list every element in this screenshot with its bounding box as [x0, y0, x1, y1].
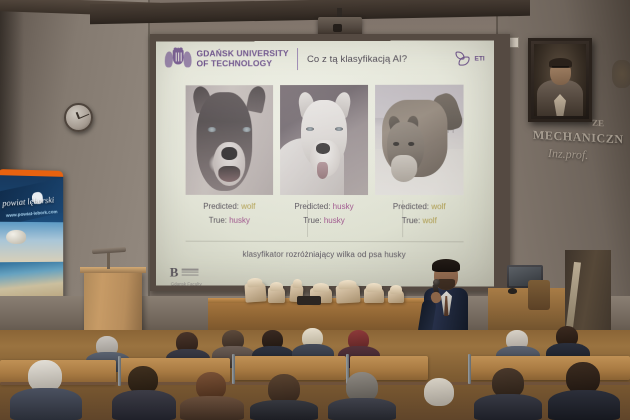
footer-logo-mark: B: [170, 267, 179, 279]
dog3-eye-right: [409, 142, 415, 145]
prediction-label-row: Predicted: wolf True: husky Predicted: h…: [186, 200, 464, 237]
slide-title: Co z tą klasyfikacją AI?: [307, 53, 454, 64]
gdansk-university-crest-icon: [165, 48, 192, 71]
university-name: GDAŃSK UNIVERSITY OF TECHNOLOGY: [197, 49, 289, 69]
predicted-line-3: Predicted: wolf: [375, 200, 463, 214]
bench-post: [232, 354, 235, 384]
bench-post: [118, 356, 121, 386]
side-chair: [528, 280, 550, 310]
projector-lens-icon: [333, 24, 342, 32]
eti-logo-shape-2: [458, 57, 469, 66]
true-value-1: husky: [229, 216, 250, 225]
slide-horizontal-rule: [186, 241, 464, 243]
audience-shoulders: [180, 396, 244, 420]
dog-photo-row: [186, 85, 464, 195]
husky-dark-photo: [186, 85, 273, 195]
desk-mouse: [508, 288, 517, 294]
audience-shoulders: [10, 388, 82, 420]
predicted-value-3: wolf: [431, 202, 445, 211]
presentation-slide: GDAŃSK UNIVERSITY OF TECHNOLOGY Co z tą …: [156, 40, 494, 286]
slide-header: GDAŃSK UNIVERSITY OF TECHNOLOGY Co z tą …: [156, 40, 494, 77]
true-line-2: True: husky: [280, 214, 368, 228]
dog1-nose: [221, 147, 237, 160]
portrait-canvas: [534, 44, 586, 116]
true-label-2: True:: [303, 216, 321, 225]
rollup-banner: powiat lęborski www.powiat-lebork.com: [0, 169, 63, 316]
lectern-top: [80, 267, 146, 273]
crest-lion-left-icon: [165, 51, 173, 67]
crest-shield-icon: [173, 49, 184, 64]
prediction-column-2: Predicted: husky True: husky: [280, 200, 368, 237]
true-label-3: True:: [402, 216, 420, 225]
paper-bag: [268, 287, 285, 303]
true-line-3: True: wolf: [375, 214, 463, 228]
prediction-column-3: Predicted: wolf True: wolf: [375, 200, 463, 237]
crest-lion-right-icon: [184, 51, 192, 67]
slide-footer-logo: B Gdansk Faculty: [170, 267, 198, 279]
wall-clock: [64, 103, 93, 132]
paper-bag: [336, 284, 361, 303]
slide-caption: klasyfikator rozróżniający wilka od psa …: [156, 250, 494, 260]
dog1-mouth: [219, 166, 240, 181]
bench-post: [468, 354, 471, 384]
banner-rock: [6, 230, 26, 244]
wolf-snow-photo: [375, 85, 463, 195]
dog1-eye-right: [242, 127, 251, 132]
paper-bag: [244, 282, 266, 302]
audience-shoulders: [328, 398, 396, 420]
table-equipment-case: [297, 296, 321, 305]
paper-bag: [364, 288, 384, 303]
audience-shoulders: [474, 394, 542, 420]
wall-sign-prefix: ZE: [592, 118, 604, 129]
eti-faculty-block: ETI: [454, 50, 484, 66]
predicted-label-1: Predicted:: [203, 202, 239, 211]
portrait-glasses-icon: [552, 66, 569, 70]
framed-portrait: [528, 38, 592, 122]
lecture-hall-scene: ZE MECHANICZN Inz.prof. GDAŃSK UNIVERSIT…: [0, 0, 630, 420]
true-value-2: husky: [324, 216, 345, 225]
clock-minute-hand: [78, 113, 89, 118]
true-value-3: wolf: [422, 216, 436, 225]
dog1-eye-left: [207, 127, 216, 132]
predicted-label-3: Predicted:: [393, 202, 429, 211]
predicted-value-2: husky: [333, 202, 354, 211]
dog1-ear-right: [246, 85, 268, 114]
husky-white-photo: [280, 85, 368, 195]
lectern-lamp-arm: [107, 252, 110, 269]
wall-emblem-icon: [612, 60, 630, 88]
prediction-column-1: Predicted: wolf True: husky: [186, 200, 273, 237]
true-label-1: True:: [209, 216, 227, 225]
predicted-line-2: Predicted: husky: [280, 200, 368, 214]
eti-logo-icon: [454, 51, 471, 67]
wall-sign-line-2: Inz.prof.: [548, 146, 588, 163]
true-line-1: True: husky: [186, 214, 273, 228]
dog3-eye-left: [393, 142, 399, 145]
audience-shoulders: [548, 390, 620, 420]
predicted-label-2: Predicted:: [294, 202, 330, 211]
eti-faculty-label: ETI: [475, 55, 485, 62]
footer-logo-lines: [181, 267, 198, 277]
microphone-head-icon: [433, 279, 440, 286]
dog2-tongue: [317, 162, 328, 179]
audience-head: [424, 378, 454, 406]
paper-bag: [388, 290, 404, 303]
audience-shoulders: [112, 390, 176, 420]
university-name-line-2: OF TECHNOLOGY: [197, 59, 289, 69]
predicted-value-1: wolf: [241, 202, 255, 211]
dog2-eye-left: [306, 127, 314, 131]
speaker-hair: [432, 259, 460, 272]
audience-shoulders: [250, 400, 318, 420]
bench-rail: [0, 382, 630, 385]
lectern: [84, 270, 142, 332]
header-divider: [297, 48, 298, 70]
predicted-line-1: Predicted: wolf: [186, 200, 273, 214]
dog2-eye-right: [335, 127, 343, 131]
